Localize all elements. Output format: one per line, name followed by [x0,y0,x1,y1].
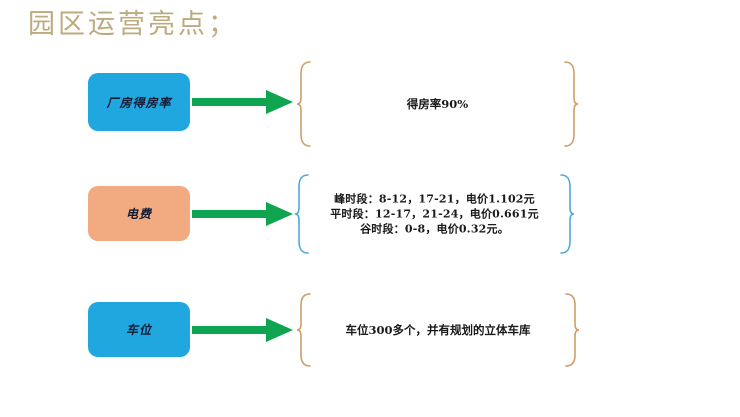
label-box-factory-usable-rate[interactable]: 厂房得房率 [88,73,190,131]
left-brace-icon-1 [295,60,313,148]
page-title: 园区运营亮点； [28,8,238,42]
green-arrow-1 [192,87,294,117]
label-box-text: 电费 [126,205,152,222]
brace-content-1: 得房率90% [319,96,556,112]
highlight-row-3: 车位 车位300多个，并有规划的立体车库 [0,292,740,370]
green-arrow-icon [192,87,294,117]
brace-line: 得房率90% [319,96,556,112]
highlight-row-2: 电费 峰时段：8-12，17-21，电价1.102元 平时段：12-17，21-… [0,173,740,258]
brace-line: 谷时段：0-8，电价0.32元。 [317,222,552,237]
green-arrow-icon [192,315,294,345]
slide-canvas: 园区运营亮点； 厂房得房率 得房率90% [0,0,740,417]
right-brace-icon-2 [558,173,576,255]
brace-line: 峰时段：8-12，17-21，电价1.102元 [317,192,552,207]
label-box-text: 车位 [126,321,152,338]
green-arrow-icon [192,199,294,229]
green-arrow-3 [192,315,294,345]
left-brace-icon-2 [293,173,311,255]
left-brace-icon-3 [295,292,313,368]
brace-line: 平时段：12-17，21-24，电价0.661元 [317,207,552,222]
green-arrow-2 [192,199,294,229]
brace-content-2: 峰时段：8-12，17-21，电价1.102元 平时段：12-17，21-24，… [317,192,552,237]
label-box-parking[interactable]: 车位 [88,302,190,357]
label-box-text: 厂房得房率 [106,94,171,111]
highlight-row-1: 厂房得房率 得房率90% [0,60,740,150]
label-box-electricity-fee[interactable]: 电费 [88,186,190,241]
brace-block-1: 得房率90% [295,60,580,148]
brace-block-3: 车位300多个，并有规划的立体车库 [295,292,581,368]
right-brace-icon-1 [562,60,580,148]
brace-line: 车位300多个，并有规划的立体车库 [319,322,557,338]
right-brace-icon-3 [563,292,581,368]
brace-content-3: 车位300多个，并有规划的立体车库 [319,322,557,338]
brace-block-2: 峰时段：8-12，17-21，电价1.102元 平时段：12-17，21-24，… [293,173,576,255]
